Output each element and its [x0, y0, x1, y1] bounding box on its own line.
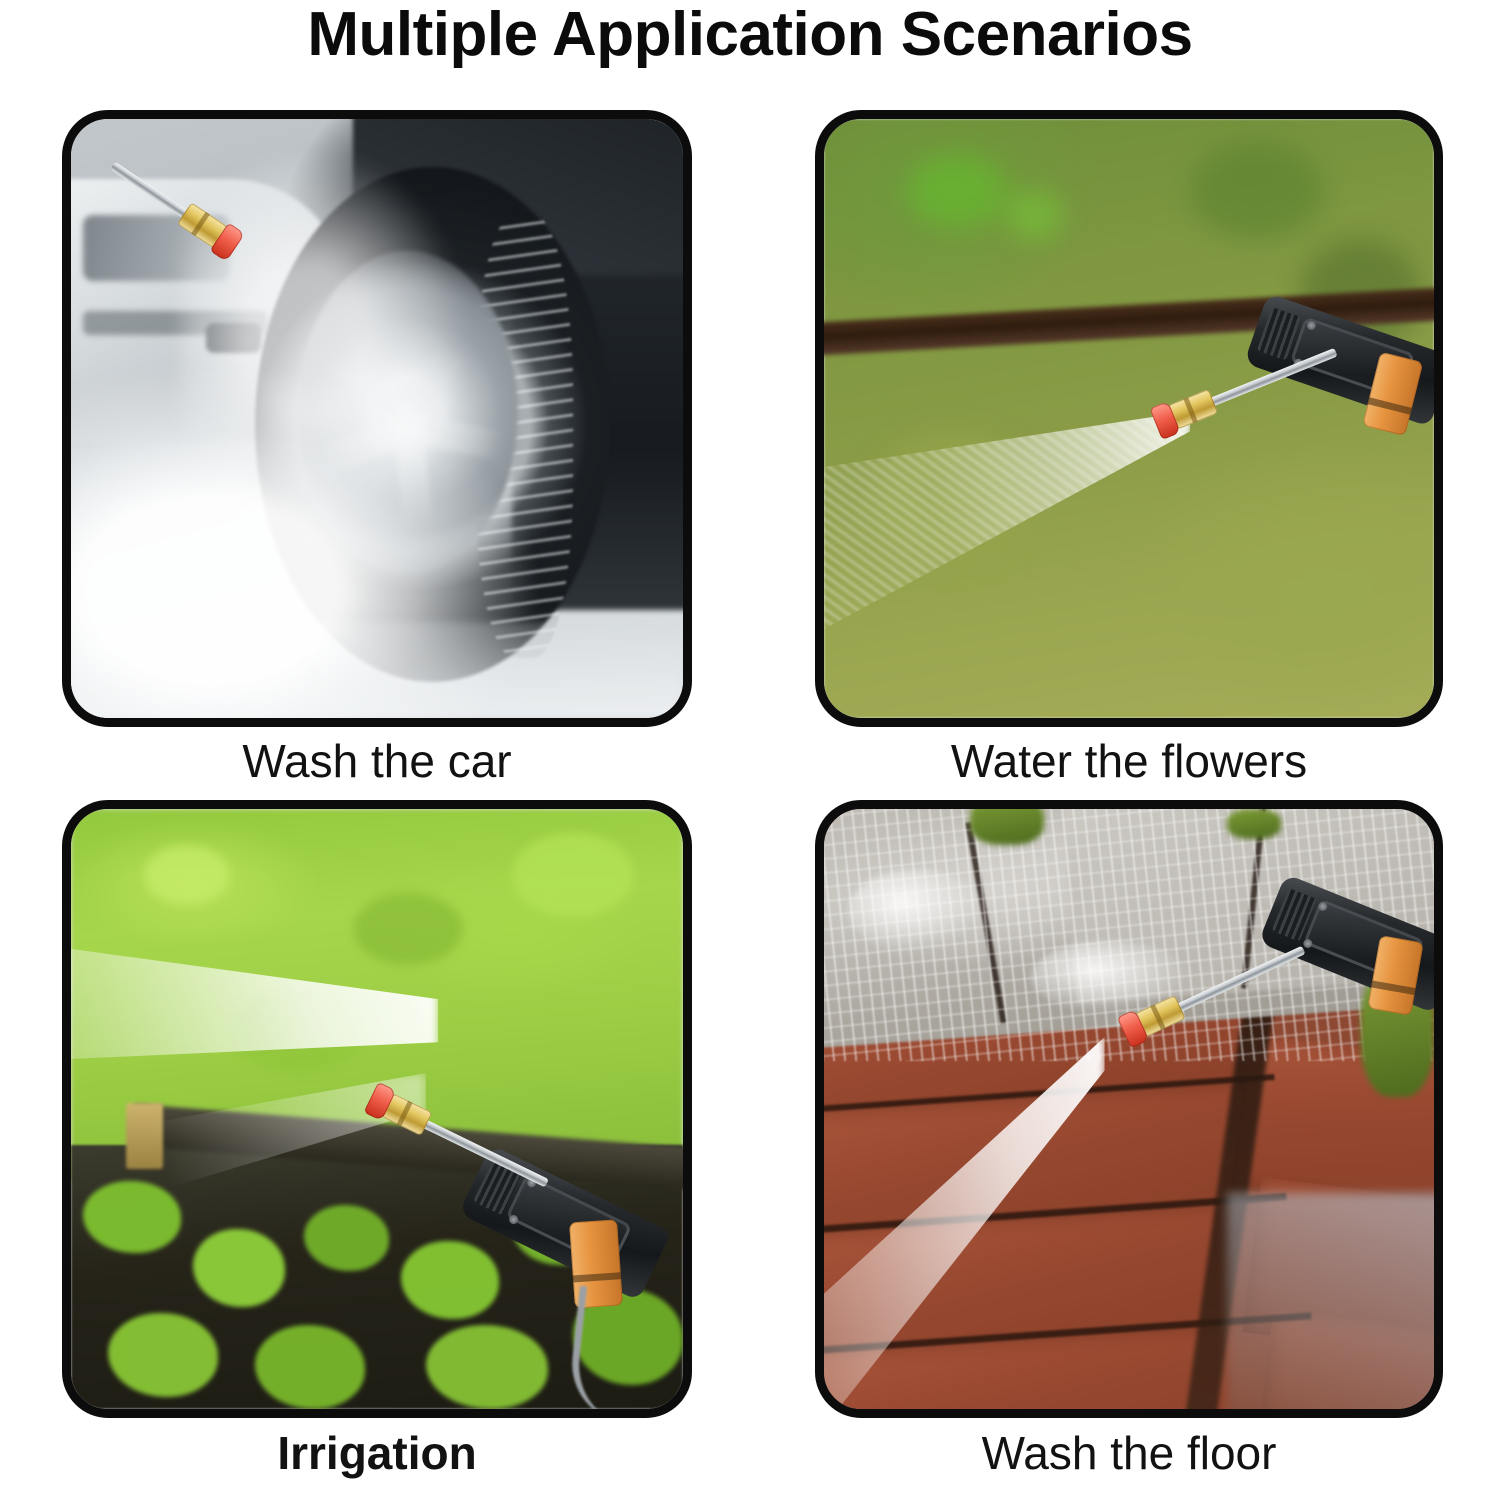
- photo-wash-the-floor: [824, 809, 1434, 1409]
- photo-irrigation: [71, 809, 683, 1409]
- foliage-blotch: [909, 155, 1007, 227]
- panel-irrigation[interactable]: [62, 800, 692, 1418]
- moss-patch: [1227, 809, 1282, 839]
- caption-wash-the-car: Wash the car: [62, 738, 692, 784]
- photo-water-the-flowers: [824, 119, 1434, 718]
- grass-shadow: [353, 893, 463, 965]
- foliage-blotch: [1007, 191, 1062, 239]
- caption-water-the-flowers: Water the flowers: [815, 738, 1443, 784]
- panel-water-the-flowers[interactable]: [815, 110, 1443, 727]
- panel-wash-the-floor[interactable]: [815, 800, 1443, 1418]
- grass-highlight: [512, 833, 634, 917]
- caption-irrigation: Irrigation: [62, 1430, 692, 1476]
- water-mist: [62, 347, 548, 727]
- foliage-blotch: [1190, 143, 1324, 239]
- water-puddle: [1227, 1193, 1443, 1418]
- photo-wash-the-car: [71, 119, 683, 718]
- grass-highlight: [144, 845, 230, 905]
- caption-wash-the-floor: Wash the floor: [815, 1430, 1443, 1476]
- panel-wash-the-car[interactable]: [62, 110, 692, 727]
- page-title: Multiple Application Scenarios: [0, 2, 1500, 67]
- seedling: [401, 1241, 499, 1319]
- water-splash: [848, 869, 982, 953]
- moss-patch: [970, 800, 1043, 845]
- seedling: [193, 1229, 285, 1307]
